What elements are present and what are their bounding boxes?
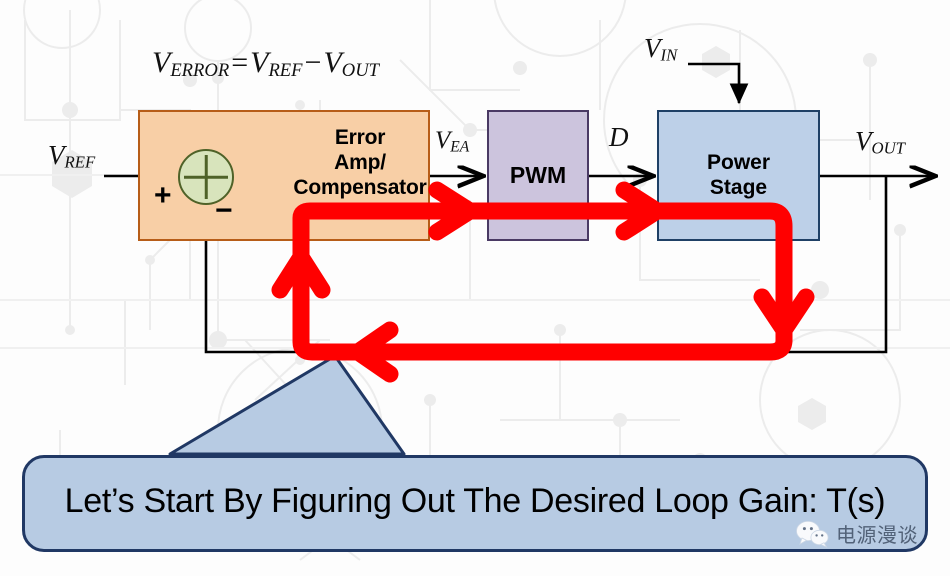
callout-text: Let’s Start By Figuring Out The Desired … [65,482,886,525]
diagram-canvas: Error Amp/ Compensator PWM Power Stage +… [0,0,950,576]
wechat-icon [795,520,829,548]
callout-box: Let’s Start By Figuring Out The Desired … [22,455,928,552]
watermark-text: 电源漫谈 [836,519,918,548]
watermark: 电源漫谈 [795,519,918,548]
